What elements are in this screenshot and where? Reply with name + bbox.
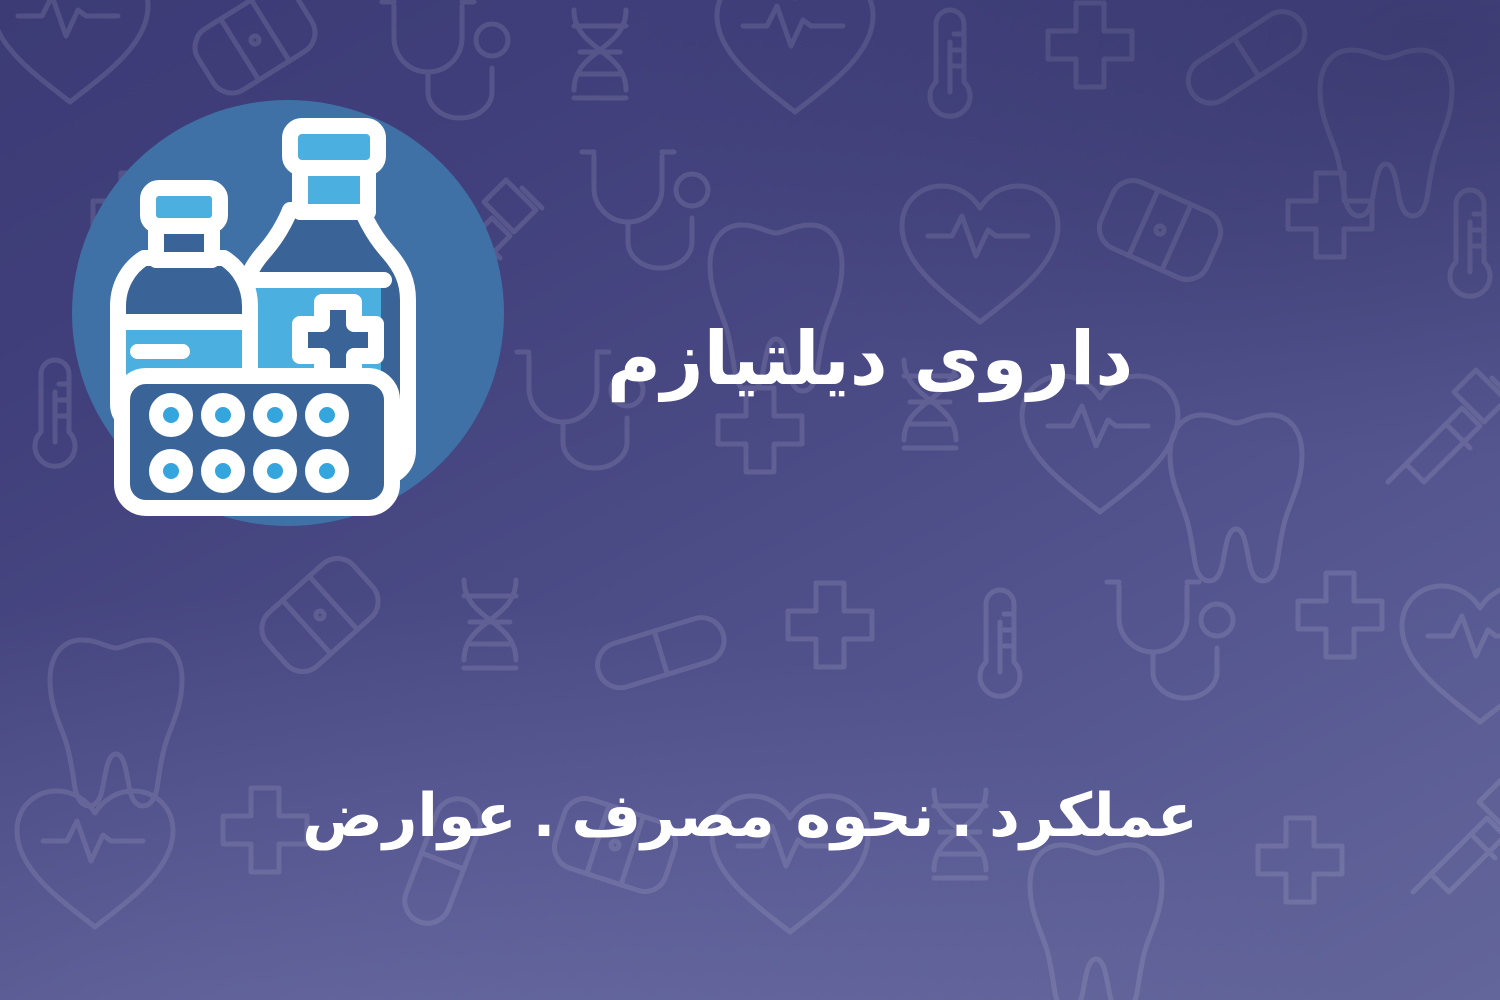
subtitle-separator-1: . [934,780,989,852]
pill-center [215,463,231,479]
subtitle-part-avarez: عوارض [302,781,516,851]
page-title: داروی دیلتیازم [490,316,1250,403]
subtitle-separator-2: . [517,780,572,852]
pill-center [215,407,231,423]
promo-card: داروی دیلتیازم عملکرد.نحوه مصرف.عوارض [0,0,1500,1000]
subtitle-part-amalkard: عملکرد [989,781,1198,851]
pill-blister-pack [122,376,392,508]
pill-center [163,463,179,479]
pill-center [267,463,283,479]
pill-center [163,407,179,423]
medicine-bottles-and-pills-icon [72,100,504,526]
pill-center [319,463,335,479]
subtitle-topics: عملکرد.نحوه مصرف.عوارض [240,780,1260,852]
subtitle-part-nahveh-masraf: نحوه مصرف [571,781,934,851]
pill-center [319,407,335,423]
pill-center [267,407,283,423]
medicine-icon-badge [72,100,504,526]
small-bottle-label-line-1 [130,344,190,359]
